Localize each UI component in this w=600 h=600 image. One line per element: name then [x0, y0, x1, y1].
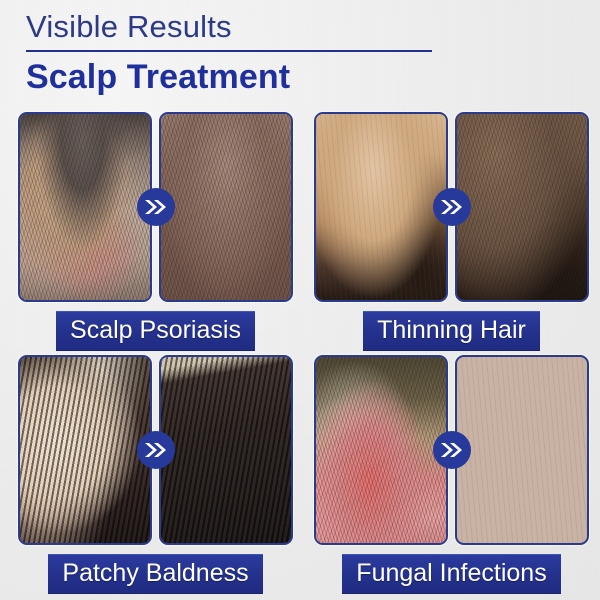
double-chevron-right-icon	[433, 188, 471, 226]
label-bar-wrap: Thinning Hair	[314, 311, 589, 351]
result-label: Scalp Psoriasis	[56, 311, 255, 351]
photo-texture	[20, 357, 150, 543]
before-after-pair	[18, 355, 293, 545]
after-photo-patchy-baldness	[159, 355, 293, 545]
photo-texture	[316, 114, 446, 300]
result-cell-patchy-baldness: Patchy Baldness	[18, 355, 293, 590]
result-label: Patchy Baldness	[48, 554, 262, 594]
before-photo-thinning-hair	[314, 112, 448, 302]
photo-texture	[457, 357, 587, 543]
results-grid: Scalp Psoriasis Thinning	[0, 112, 600, 600]
before-after-pair	[18, 112, 293, 302]
after-photo-fungal-infections	[455, 355, 589, 545]
before-after-pair	[314, 112, 589, 302]
label-bar-wrap: Scalp Psoriasis	[18, 311, 293, 351]
result-cell-fungal-infections: Fungal Infections	[314, 355, 589, 590]
after-photo-scalp-psoriasis	[159, 112, 293, 302]
photo-texture	[457, 114, 587, 300]
photo-texture	[20, 114, 150, 300]
result-label: Fungal Infections	[342, 554, 560, 594]
after-photo-thinning-hair	[455, 112, 589, 302]
poster-root: Visible Results Scalp Treatment	[0, 0, 600, 600]
result-cell-thinning-hair: Thinning Hair	[314, 112, 589, 347]
before-after-pair	[314, 355, 589, 545]
double-chevron-right-icon	[137, 188, 175, 226]
double-chevron-right-icon	[137, 431, 175, 469]
eyebrow-title: Visible Results	[26, 6, 436, 48]
page-title: Scalp Treatment	[26, 56, 436, 98]
result-cell-scalp-psoriasis: Scalp Psoriasis	[18, 112, 293, 347]
double-chevron-right-icon	[433, 431, 471, 469]
before-photo-fungal-infections	[314, 355, 448, 545]
photo-texture	[161, 114, 291, 300]
before-photo-scalp-psoriasis	[18, 112, 152, 302]
title-divider	[26, 50, 432, 52]
header: Visible Results Scalp Treatment	[26, 6, 436, 98]
photo-texture	[316, 357, 446, 543]
photo-texture	[161, 357, 291, 543]
label-bar-wrap: Fungal Infections	[314, 554, 589, 594]
result-label: Thinning Hair	[363, 311, 540, 351]
before-photo-patchy-baldness	[18, 355, 152, 545]
label-bar-wrap: Patchy Baldness	[18, 554, 293, 594]
